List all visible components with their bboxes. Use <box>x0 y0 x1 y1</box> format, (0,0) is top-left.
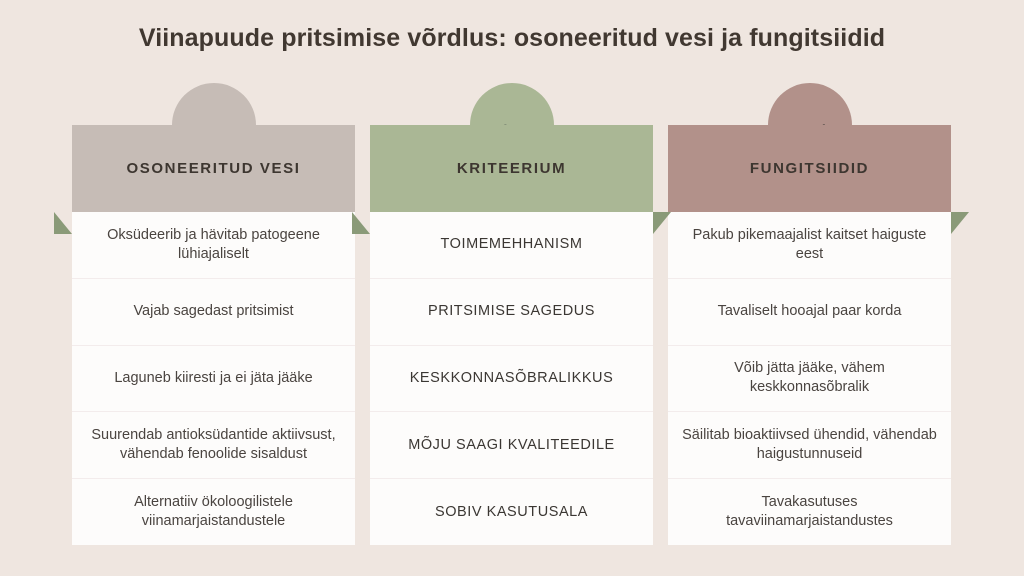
column-ozonated-water: OSONEERITUD VESI Oksüdeerib ja hävitab p… <box>72 125 355 545</box>
page-title: Viinapuude pritsimise võrdlus: osoneerit… <box>0 24 1024 53</box>
table-cell: Võib jätta jääke, vähem keskkonnasõbrali… <box>668 346 951 413</box>
ribbon-fold-right <box>653 212 671 234</box>
table-cell: Tavakasutuses tavaviinamarjaistandustes <box>668 479 951 545</box>
table-cell: PRITSIMISE SAGEDUS <box>370 279 653 346</box>
table-cell: Suurendab antioksüdantide aktiivsust, vä… <box>72 412 355 479</box>
column-fungicides: FUNGITSIIDID Pakub pikemaajalist kaitset… <box>668 125 951 545</box>
column-header-criteria: KRITEERIUM <box>370 125 653 212</box>
column-header-fungicides: FUNGITSIIDID <box>668 125 951 212</box>
column-header-ozonated-water: OSONEERITUD VESI <box>72 125 355 212</box>
table-cell: Alternatiiv ökoloogilistele viinamarjais… <box>72 479 355 545</box>
table-cell: TOIMEMEHHANISM <box>370 212 653 279</box>
column-header-label: FUNGITSIIDID <box>750 160 869 177</box>
comparison-table: OSONEERITUD VESI Oksüdeerib ja hävitab p… <box>72 125 952 545</box>
column-card-ozonated-water: Oksüdeerib ja hävitab patogeene lühiajal… <box>72 212 355 545</box>
column-header-label: KRITEERIUM <box>457 160 566 177</box>
column-header-label: OSONEERITUD VESI <box>127 160 301 177</box>
table-cell: Oksüdeerib ja hävitab patogeene lühiajal… <box>72 212 355 279</box>
table-cell: Vajab sagedast pritsimist <box>72 279 355 346</box>
ribbon-fold-left <box>352 212 370 234</box>
table-cell: KESKKONNASÕBRALIKKUS <box>370 346 653 413</box>
column-card-fungicides: Pakub pikemaajalist kaitset haiguste ees… <box>668 212 951 545</box>
table-cell: Tavaliselt hooajal paar korda <box>668 279 951 346</box>
table-cell: Pakub pikemaajalist kaitset haiguste ees… <box>668 212 951 279</box>
table-cell: Laguneb kiiresti ja ei jäta jääke <box>72 346 355 413</box>
ribbon-fold-left <box>54 212 72 234</box>
ribbon-fold-right <box>951 212 969 234</box>
table-cell: SOBIV KASUTUSALA <box>370 479 653 545</box>
table-cell: MÕJU SAAGI KVALITEEDILE <box>370 412 653 479</box>
column-card-criteria: TOIMEMEHHANISM PRITSIMISE SAGEDUS KESKKO… <box>370 212 653 545</box>
table-cell: Säilitab bioaktiivsed ühendid, vähendab … <box>668 412 951 479</box>
column-criteria: KRITEERIUM TOIMEMEHHANISM PRITSIMISE SAG… <box>370 125 653 545</box>
